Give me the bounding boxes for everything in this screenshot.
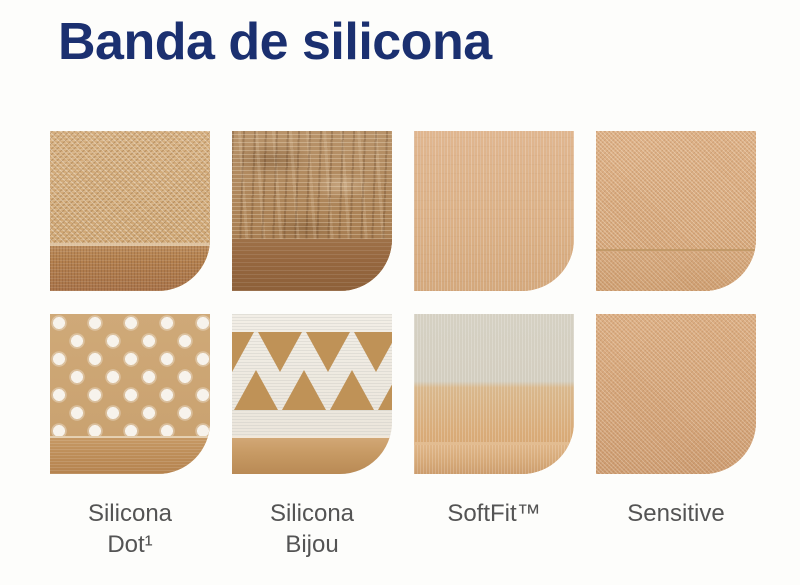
- swatch-softfit-top[interactable]: [414, 131, 574, 291]
- caption-row: Silicona Dot¹ Silicona Bijou SoftFit™ Se…: [50, 498, 756, 560]
- triangle-icon: [234, 370, 278, 410]
- edge-band: [232, 436, 392, 474]
- swatch-softfit-bottom[interactable]: [414, 314, 574, 474]
- triangle-icon: [282, 370, 326, 410]
- triangle-icon: [306, 332, 350, 372]
- swatch-sensitive-top[interactable]: [596, 131, 756, 291]
- edge-band: [50, 243, 210, 291]
- caption-sensitive: Sensitive: [596, 498, 756, 560]
- swatch-silicona-bijou-bottom[interactable]: [232, 314, 392, 474]
- texture-vertical-rib: [414, 131, 574, 291]
- triangle-icon: [354, 332, 392, 372]
- triangle-icon: [258, 332, 302, 372]
- swatch-silicona-dot-top[interactable]: [50, 131, 210, 291]
- edge-band: [596, 249, 756, 291]
- texture-fine-grain: [596, 314, 756, 474]
- texture-triangle-chevron: [232, 332, 392, 410]
- edge-band: [414, 442, 574, 474]
- triangle-icon: [330, 370, 374, 410]
- caption-silicona-dot: Silicona Dot¹: [50, 498, 210, 560]
- caption-softfit: SoftFit™: [414, 498, 574, 560]
- page-title: Banda de silicona: [58, 14, 492, 71]
- swatch-grid: [50, 131, 756, 474]
- swatch-silicona-dot-bottom[interactable]: [50, 314, 210, 474]
- triangle-icon: [232, 332, 254, 372]
- edge-band: [50, 436, 210, 474]
- caption-silicona-bijou: Silicona Bijou: [232, 498, 392, 560]
- swatch-sensitive-bottom[interactable]: [596, 314, 756, 474]
- edge-band: [232, 239, 392, 291]
- triangle-icon: [378, 370, 392, 410]
- swatch-silicona-bijou-top[interactable]: [232, 131, 392, 291]
